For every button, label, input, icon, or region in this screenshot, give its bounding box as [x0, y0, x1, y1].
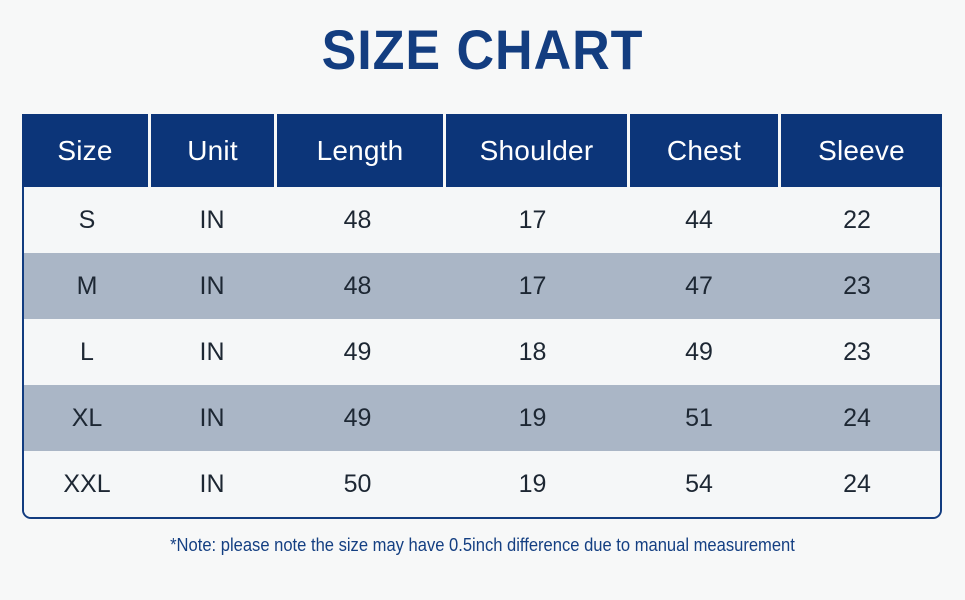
cell-shoulder: 19 [441, 451, 624, 517]
cell-length: 48 [274, 253, 441, 319]
column-header-chest: Chest [630, 114, 778, 187]
cell-chest: 51 [624, 385, 774, 451]
table-header-row: Size Unit Length Shoulder Chest Sleeve [22, 114, 942, 187]
cell-sleeve: 22 [774, 187, 940, 253]
table-body: S IN 48 17 44 22 M IN 48 17 47 23 L IN 4… [22, 187, 942, 519]
cell-size: XL [24, 385, 150, 451]
cell-length: 50 [274, 451, 441, 517]
column-header-shoulder: Shoulder [446, 114, 627, 187]
column-header-length: Length [277, 114, 443, 187]
cell-sleeve: 23 [774, 319, 940, 385]
cell-chest: 47 [624, 253, 774, 319]
cell-shoulder: 17 [441, 253, 624, 319]
cell-shoulder: 17 [441, 187, 624, 253]
table-row: XL IN 49 19 51 24 [24, 385, 940, 451]
cell-size: M [24, 253, 150, 319]
cell-unit: IN [150, 451, 274, 517]
size-chart-page: SIZE CHART Size Unit Length Shoulder Che… [0, 0, 965, 600]
table-row: S IN 48 17 44 22 [24, 187, 940, 253]
size-chart-table: Size Unit Length Shoulder Chest Sleeve S… [22, 114, 942, 519]
table-row: L IN 49 18 49 23 [24, 319, 940, 385]
cell-shoulder: 19 [441, 385, 624, 451]
cell-sleeve: 24 [774, 385, 940, 451]
page-title: SIZE CHART [34, 17, 931, 83]
cell-unit: IN [150, 253, 274, 319]
column-header-sleeve: Sleeve [781, 114, 942, 187]
cell-size: S [24, 187, 150, 253]
cell-size: XXL [24, 451, 150, 517]
cell-chest: 49 [624, 319, 774, 385]
cell-chest: 44 [624, 187, 774, 253]
measurement-note: *Note: please note the size may have 0.5… [39, 534, 927, 556]
cell-size: L [24, 319, 150, 385]
cell-unit: IN [150, 319, 274, 385]
cell-sleeve: 23 [774, 253, 940, 319]
cell-length: 48 [274, 187, 441, 253]
table-row: M IN 48 17 47 23 [24, 253, 940, 319]
table-row: XXL IN 50 19 54 24 [24, 451, 940, 517]
cell-sleeve: 24 [774, 451, 940, 517]
cell-chest: 54 [624, 451, 774, 517]
cell-shoulder: 18 [441, 319, 624, 385]
cell-length: 49 [274, 385, 441, 451]
column-header-unit: Unit [151, 114, 274, 187]
cell-length: 49 [274, 319, 441, 385]
cell-unit: IN [150, 187, 274, 253]
column-header-size: Size [22, 114, 148, 187]
cell-unit: IN [150, 385, 274, 451]
